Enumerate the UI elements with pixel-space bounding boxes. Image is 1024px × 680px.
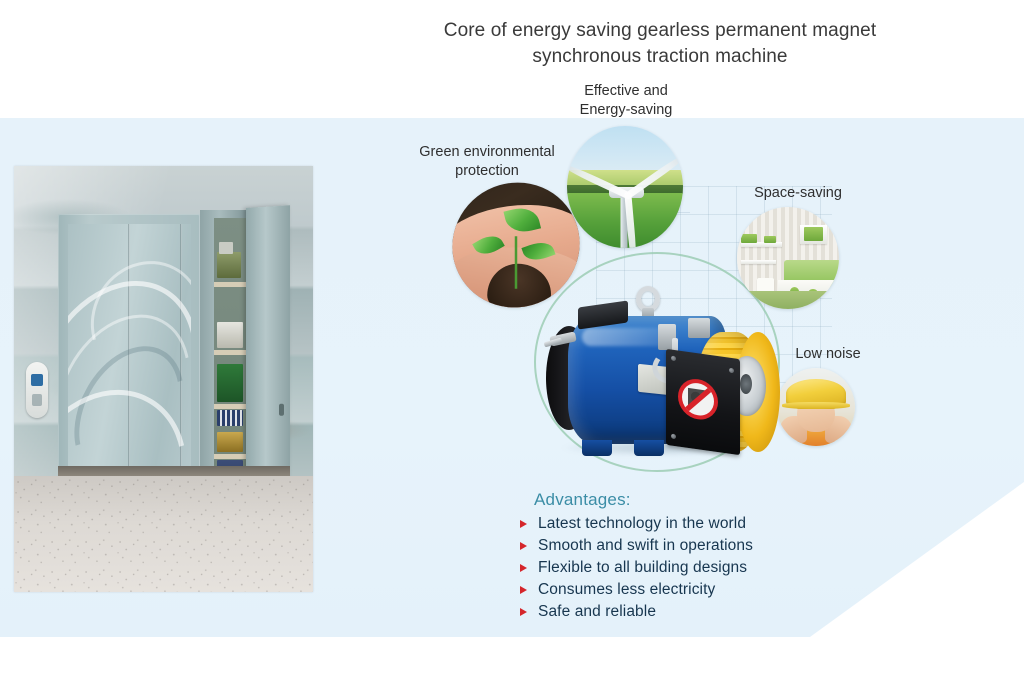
list-item: Flexible to all building designs <box>518 557 818 579</box>
list-item: Latest technology in the world <box>518 513 818 535</box>
rope-guard <box>666 349 740 455</box>
list-item-label: Smooth and swift in operations <box>538 537 753 554</box>
list-item: Consumes less electricity <box>518 579 818 601</box>
granite-floor <box>14 476 313 592</box>
list-item-label: Flexible to all building designs <box>538 559 747 576</box>
advantages-heading: Advantages: <box>534 490 818 510</box>
list-item-label: Latest technology in the world <box>538 515 746 532</box>
triangle-bullet-icon <box>520 520 527 528</box>
feature-image-low-noise <box>777 368 855 446</box>
feature-image-effective-and-energy-saving <box>567 126 683 248</box>
feature-label-green-environmental-protection: Green environmental protection <box>404 143 570 181</box>
feature-label-low-noise: Low noise <box>780 345 876 364</box>
slide-canvas: Core of energy saving gearless permanent… <box>0 0 1024 680</box>
door-threshold <box>58 466 290 476</box>
triangle-bullet-icon <box>520 586 527 594</box>
triangle-bullet-icon <box>520 608 527 616</box>
page-title: Core of energy saving gearless permanent… <box>330 18 990 70</box>
advantages-list: Latest technology in the world Smooth an… <box>518 513 818 623</box>
list-item: Smooth and swift in operations <box>518 535 818 557</box>
elevator-call-button-panel <box>26 362 48 418</box>
list-item: Safe and reliable <box>518 601 818 623</box>
list-item-label: Safe and reliable <box>538 603 656 620</box>
triangle-bullet-icon <box>520 542 527 550</box>
feature-label-effective-and-energy-saving: Effective and Energy-saving <box>560 82 692 120</box>
feature-label-space-saving: Space-saving <box>744 184 852 203</box>
warning-prohibition-icon <box>682 381 714 417</box>
traction-machine-illustration <box>540 282 780 460</box>
list-item-label: Consumes less electricity <box>538 581 715 598</box>
elevator-photo <box>14 166 313 592</box>
triangle-bullet-icon <box>520 564 527 572</box>
advantages-section: Advantages: Latest technology in the wor… <box>518 490 818 623</box>
